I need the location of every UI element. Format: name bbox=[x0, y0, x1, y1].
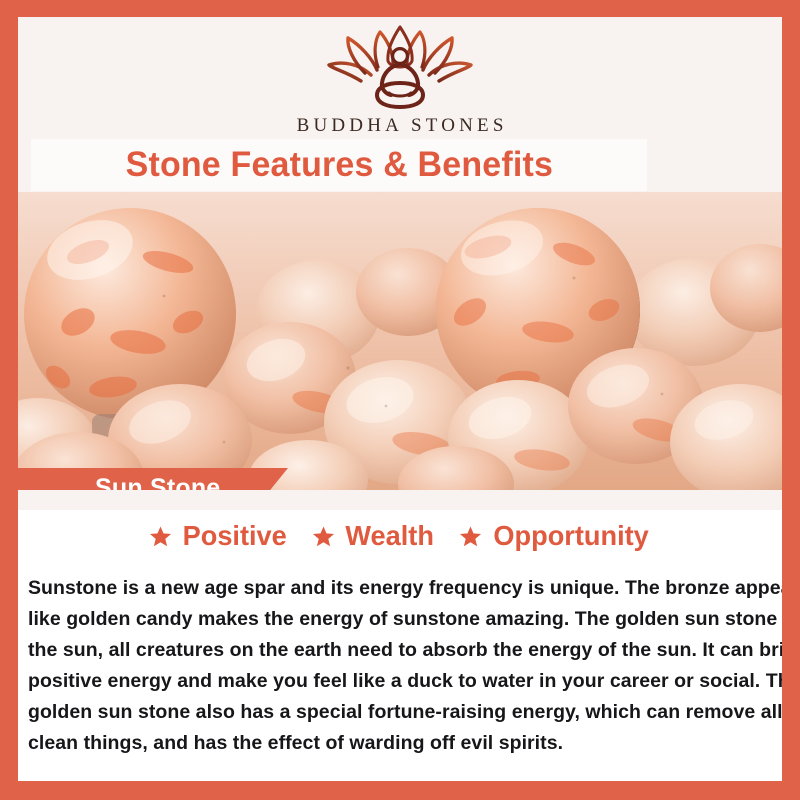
benefit-item-opportunity: Opportunity bbox=[459, 520, 651, 552]
description-line: the sun, all creatures on the earth need… bbox=[28, 635, 778, 666]
stone-photo: Sun Stone bbox=[18, 192, 782, 490]
stone-name-label: Sun Stone bbox=[95, 474, 220, 491]
benefit-label: Wealth bbox=[345, 520, 434, 552]
benefit-item-positive: Positive bbox=[149, 520, 288, 552]
brand-name: BUDDHA STONES bbox=[18, 115, 782, 137]
body-top-tint bbox=[18, 490, 782, 510]
star-icon bbox=[459, 525, 482, 548]
benefit-label: Opportunity bbox=[494, 520, 649, 552]
description-section: Positive Wealth Opportunity Sunstone is bbox=[18, 490, 782, 781]
brand-logo: BUDDHA STONES bbox=[18, 25, 782, 137]
description-line: Sunstone is a new age spar and its energ… bbox=[28, 573, 778, 604]
poster-inner-canvas: BUDDHA STONES Stone Features & Benefits bbox=[18, 17, 782, 781]
lotus-meditation-logo-icon bbox=[325, 25, 475, 113]
description-line: like golden candy makes the energy of su… bbox=[28, 604, 778, 635]
page-title: Stone Features & Benefits bbox=[125, 145, 552, 185]
stone-info-poster: BUDDHA STONES Stone Features & Benefits bbox=[0, 0, 800, 800]
description-line: positive energy and make you feel like a… bbox=[28, 666, 778, 697]
benefit-item-wealth: Wealth bbox=[312, 520, 435, 552]
description-paragraph: Sunstone is a new age spar and its energ… bbox=[28, 573, 778, 759]
stone-name-ribbon: Sun Stone bbox=[18, 468, 288, 490]
star-icon bbox=[312, 525, 335, 548]
benefit-label: Positive bbox=[182, 520, 286, 552]
star-icon bbox=[149, 525, 172, 548]
sunstone-photo-illustration bbox=[18, 192, 782, 490]
benefits-list: Positive Wealth Opportunity bbox=[18, 520, 782, 552]
description-line: golden sun stone also has a special fort… bbox=[28, 697, 778, 728]
title-band: Stone Features & Benefits bbox=[31, 139, 647, 191]
description-line: clean things, and has the effect of ward… bbox=[28, 728, 778, 759]
